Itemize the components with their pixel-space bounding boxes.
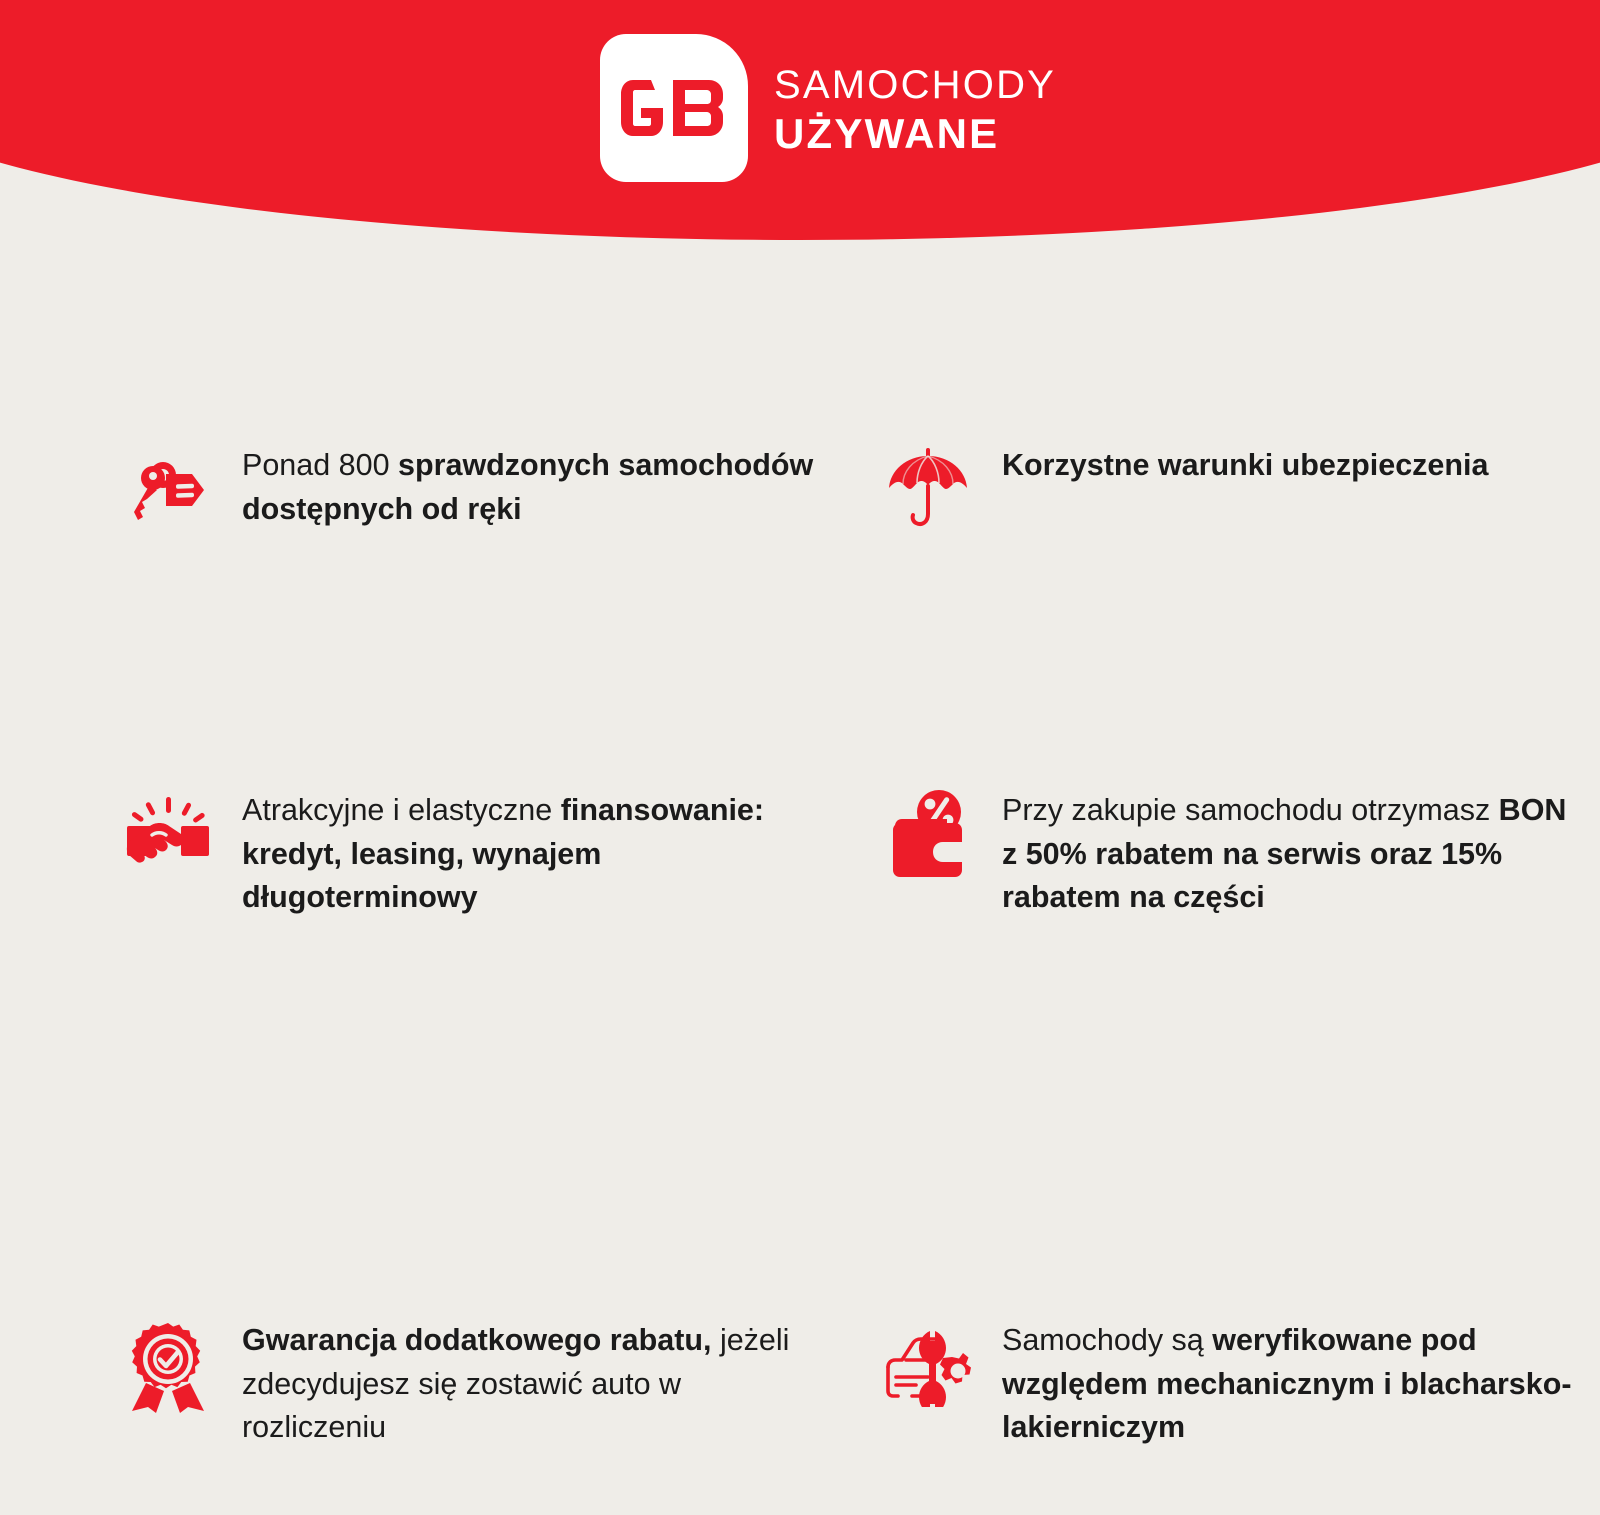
feature-text-normal: Ponad 800 <box>242 448 398 482</box>
brand-line-2: UŻYWANE <box>774 113 1056 155</box>
features-column-right: Korzystne warunki ubezpieczenia <box>880 440 1600 1515</box>
feature-text: Gwarancja dodatkowego rabatu, jeżeli zde… <box>242 1315 822 1450</box>
feature-text: Ponad 800 sprawdzonych samochodów dostęp… <box>242 440 822 531</box>
award-badge-icon <box>120 1319 216 1415</box>
car-wrench-gear-icon <box>880 1315 976 1411</box>
brand-line-1: SAMOCHODY <box>774 65 1056 105</box>
brand-lockup: SAMOCHODY UŻYWANE <box>600 34 1056 182</box>
feature-text-bold: Gwarancja dodatkowego rabatu, <box>242 1323 711 1357</box>
gb-logo-icon <box>619 78 729 138</box>
feature-text: Korzystne warunki ubezpieczenia <box>1002 440 1488 488</box>
feature-item: Gwarancja dodatkowego rabatu, jeżeli zde… <box>120 985 840 1515</box>
feature-text-normal: Atrakcyjne i elastyczne <box>242 793 561 827</box>
feature-text: Samochody są weryfikowane pod względem m… <box>1002 1315 1582 1450</box>
feature-text-normal: Samochody są <box>1002 1323 1212 1357</box>
feature-item: Przy zakupie samochodu otrzymasz BON z 5… <box>880 640 1600 985</box>
key-tag-icon <box>120 444 216 540</box>
brand-wordmark: SAMOCHODY UŻYWANE <box>774 61 1056 155</box>
feature-text: Przy zakupie samochodu otrzymasz BON z 5… <box>1002 785 1582 920</box>
wallet-percent-icon <box>880 785 976 881</box>
feature-text: Atrakcyjne i elastyczne finansowanie: kr… <box>242 785 822 920</box>
umbrella-icon <box>880 440 976 536</box>
handshake-icon <box>120 789 216 885</box>
feature-item: Ponad 800 sprawdzonych samochodów dostęp… <box>120 440 840 640</box>
gb-logo-mark <box>600 34 748 182</box>
feature-text-bold: Korzystne warunki ubezpieczenia <box>1002 448 1488 482</box>
feature-item: Korzystne warunki ubezpieczenia <box>880 440 1600 640</box>
feature-text-normal: Przy zakupie samochodu otrzymasz <box>1002 793 1499 827</box>
features-column-left: Ponad 800 sprawdzonych samochodów dostęp… <box>120 440 840 1515</box>
features-grid: Ponad 800 sprawdzonych samochodów dostęp… <box>0 440 1600 1515</box>
feature-item: Atrakcyjne i elastyczne finansowanie: kr… <box>120 640 840 985</box>
feature-item: Samochody są weryfikowane pod względem m… <box>880 985 1600 1515</box>
